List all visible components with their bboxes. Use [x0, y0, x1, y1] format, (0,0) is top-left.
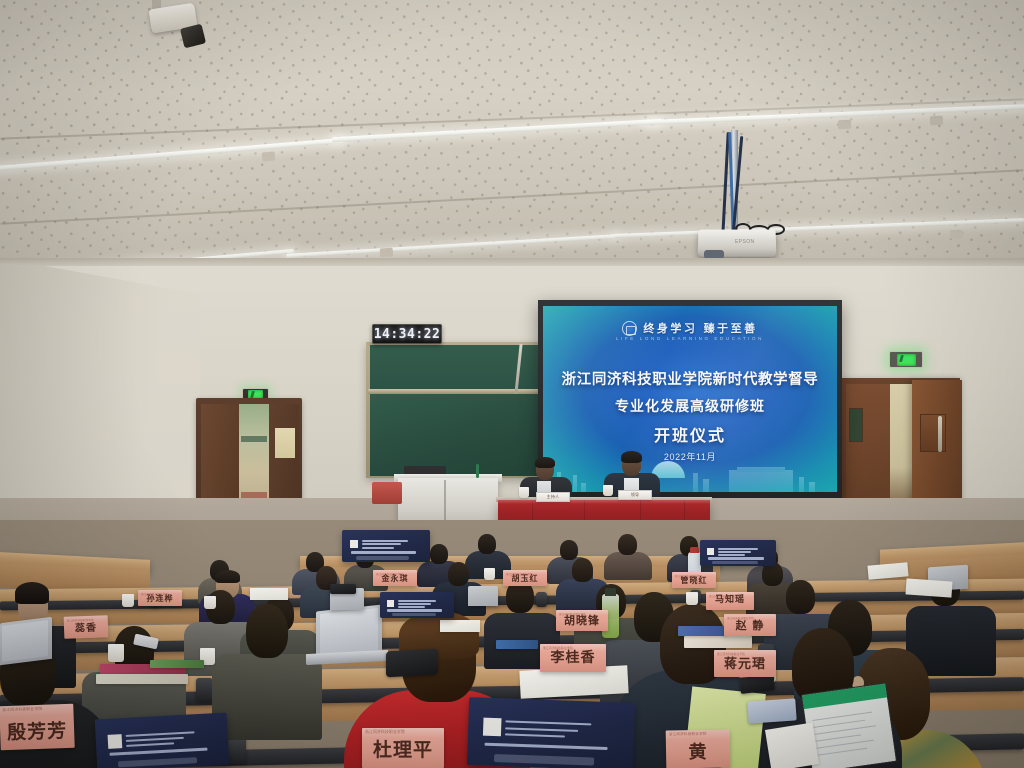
- paper-cup: [204, 596, 216, 609]
- attendee-name-placard: 浙江同济科技职业学院殷芳芳: [0, 704, 75, 751]
- placard-name-text: 马知瑶: [715, 596, 745, 610]
- booklet: [684, 636, 752, 648]
- document-paper: [440, 620, 480, 632]
- placard-name-text: 蕊香: [75, 623, 97, 638]
- document-paper: [765, 723, 819, 768]
- head-table-namecard: 主持人: [536, 492, 570, 502]
- ceiling: [0, 0, 1024, 300]
- slide-logo-text: 终身学习 臻于至善: [643, 320, 757, 336]
- clock-time-display: 14:34:22: [374, 327, 441, 342]
- namecard-text: 主持人: [547, 494, 560, 500]
- projector-cables: [722, 132, 744, 236]
- bottle-cap: [605, 588, 616, 596]
- attendee-name-placard: 浙江同济科技职业学院李桂香: [540, 644, 606, 672]
- paper-cup: [686, 592, 698, 605]
- head-table-namecard: 领导: [618, 490, 652, 500]
- conference-tote-bag: [467, 697, 635, 768]
- placard-org-label: 浙江同济科技职业学院: [669, 732, 707, 738]
- placard-name-text: 殷芳芳: [7, 722, 68, 750]
- laptop-screen: [2, 620, 48, 662]
- placard-name-text: 孙连桦: [147, 594, 174, 606]
- booklet: [150, 660, 204, 668]
- qr-code-icon: [108, 734, 123, 749]
- qr-code-icon: [707, 548, 714, 555]
- attendee-name-placard: 浙江同济科技职业学院杜理平: [362, 728, 444, 768]
- conference-tote-bag: [95, 713, 230, 768]
- booklet: [96, 674, 188, 684]
- placard-name-text: 李桂香: [551, 651, 596, 672]
- attendee-name-placard: 浙江同济科技职业学院孙连桦: [138, 590, 182, 606]
- light-clip: [930, 116, 943, 126]
- placard-name-text: 胡晓锋: [564, 615, 600, 631]
- smartphone[interactable]: [330, 584, 356, 594]
- speaker-hair: [535, 457, 555, 468]
- placard-name-text: 杜理平: [373, 741, 433, 768]
- mousepad: [386, 649, 438, 678]
- attendee-name-placard: 浙江同济科技职业学院黄: [666, 729, 731, 768]
- paper-cup: [484, 568, 495, 580]
- placard-org-label: 浙江同济科技职业学院: [717, 652, 745, 656]
- attendee-name-placard: 浙江同济科技职业学院赵 静: [724, 614, 776, 636]
- slide-logo-subtext: LIFE LONG LEARNING EDUCATION: [543, 336, 837, 341]
- qr-code-icon: [483, 718, 502, 737]
- placard-name-text: 金永琪: [382, 574, 409, 586]
- qr-code-icon: [387, 600, 394, 607]
- conference-tote-bag: [700, 540, 776, 566]
- seat-clamp: [196, 678, 213, 702]
- placard-org-label: 浙江同济科技职业学院: [2, 707, 42, 713]
- paper-cup: [122, 594, 134, 607]
- paper-cup: [108, 644, 124, 662]
- document-paper: [905, 578, 952, 597]
- laptop[interactable]: [468, 586, 498, 606]
- attendee-name-placard: 浙江同济科技职业学院金永琪: [373, 570, 417, 586]
- placard-name-text: 胡玉红: [512, 574, 539, 586]
- slide-title-line1: 浙江同济科技职业学院新时代教学督导: [543, 368, 837, 389]
- placard-name-text: 黄: [688, 743, 707, 768]
- slide-skyline-graphic: [543, 456, 837, 492]
- namecard-text: 领导: [631, 492, 640, 498]
- red-item-on-stage: [372, 482, 402, 504]
- water-cup: [603, 485, 613, 496]
- document-paper: [250, 588, 288, 600]
- running-man-exit-icon: [897, 354, 916, 366]
- qr-code-icon: [350, 540, 358, 548]
- door-notice-paper: [275, 428, 295, 458]
- slide-title-line3: 开班仪式: [543, 422, 837, 446]
- door-viewport-window: [849, 408, 863, 442]
- id-card: [747, 698, 796, 723]
- wall-ceiling-trim: [0, 258, 1024, 266]
- placard-name-text: 蒋元珺: [724, 658, 766, 677]
- light-clip: [262, 151, 276, 161]
- booklet: [678, 626, 726, 636]
- placard-name-text: 管晓红: [681, 576, 708, 588]
- booklet: [496, 640, 538, 649]
- lecture-hall-photo: EPSON 14:34:22 终身学习 臻于至善 LIFE LONG LE: [0, 0, 1024, 768]
- door-right-panel: [920, 414, 946, 452]
- water-cup: [519, 487, 529, 498]
- chalkboard-main-panel: [370, 394, 548, 476]
- conference-tote-bag: [342, 530, 430, 562]
- placard-org-label: 浙江同济科技职业学院: [365, 730, 405, 735]
- outdoor-foliage: [241, 436, 267, 442]
- light-clip: [838, 120, 851, 130]
- attendee-name-placard: 浙江同济科技职业学院马知瑶: [706, 592, 754, 610]
- attendee-name-placard: 浙江同济科技职业学院蕊香: [64, 615, 109, 639]
- light-clip: [950, 230, 963, 239]
- institution-seal-icon: [622, 321, 637, 336]
- exit-sign-right: [889, 351, 923, 368]
- ceiling-acoustic-tiles: [0, 0, 1024, 300]
- placard-name-text: 赵 静: [736, 620, 765, 636]
- slide-logo-row: 终身学习 臻于至善: [543, 320, 837, 336]
- slide-title-line2: 专业化发展高级研修班: [543, 396, 837, 416]
- seat-clamp: [536, 592, 547, 607]
- podium-microphone-icon: [476, 464, 479, 478]
- projector-brand-label: EPSON: [735, 239, 755, 245]
- digital-wall-clock: 14:34:22: [372, 324, 442, 344]
- bottle-cap: [690, 547, 699, 553]
- attendee-name-placard: 浙江同济科技职业学院胡晓锋: [556, 610, 608, 631]
- door-handle-icon[interactable]: [938, 416, 942, 452]
- attendee-name-placard: 浙江同济科技职业学院管晓红: [672, 572, 716, 588]
- light-clip: [380, 248, 394, 258]
- speaker-hair: [621, 451, 642, 463]
- attendee-name-placard: 浙江同济科技职业学院胡玉红: [503, 570, 547, 586]
- attendee-name-placard: 浙江同济科技职业学院蒋元珺: [714, 650, 776, 677]
- conference-tote-bag: [380, 592, 454, 618]
- laptop-screen: [320, 608, 378, 656]
- projection-screen: 终身学习 臻于至善 LIFE LONG LEARNING EDUCATION 浙…: [543, 306, 837, 492]
